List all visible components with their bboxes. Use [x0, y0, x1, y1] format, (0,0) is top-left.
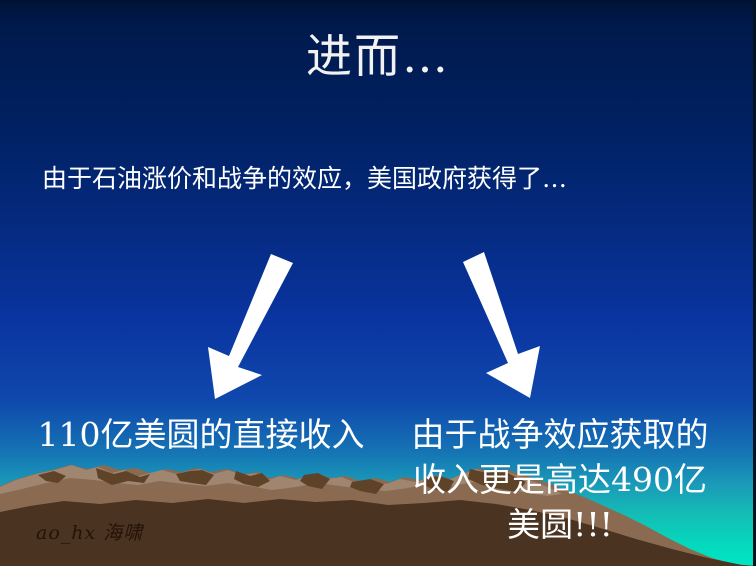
down-right-arrow [463, 252, 540, 398]
presentation-slide: 进而… 由于石油涨价和战争的效应，美国政府获得了… 110亿美圆的直接收入 由于… [0, 0, 756, 566]
callout-direct-income: 110亿美圆的直接收入 [36, 412, 366, 457]
down-left-arrow [208, 254, 293, 399]
watermark-text: ao_hx 海啸 [36, 518, 143, 545]
callout-war-effect-income: 由于战争效应获取的收入更是高达490亿美圆!!! [400, 412, 720, 547]
